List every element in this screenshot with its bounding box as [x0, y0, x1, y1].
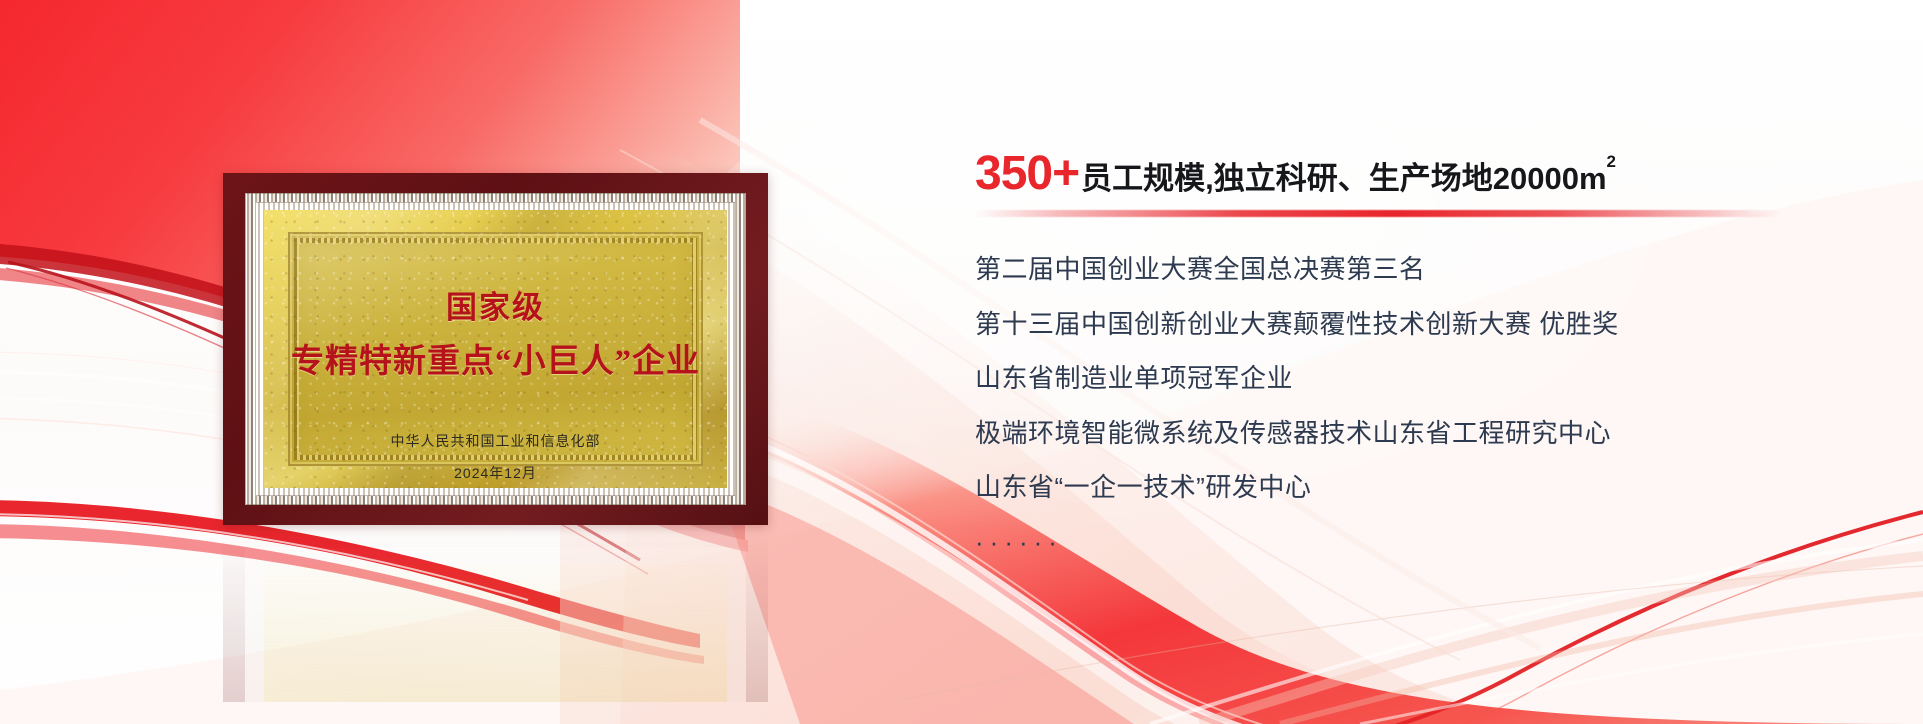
headline-underline-rule	[975, 210, 1780, 217]
achievement-list: 第二届中国创业大赛全国总决赛第三名 第十三届中国创新创业大赛颠覆性技术创新大赛 …	[975, 255, 1875, 557]
promotional-banner: 国家级 专精特新重点“小巨人”企业 中华人民共和国工业和信息化部 2024年12…	[0, 0, 1923, 724]
list-item: 极端环境智能微系统及传感器技术山东省工程研究中心	[975, 419, 1875, 448]
plaque-date: 2024年12月	[264, 463, 727, 483]
headline-text: 员工规模,独立科研、生产场地20000m2	[1081, 163, 1616, 194]
plaque-frame: 国家级 专精特新重点“小巨人”企业 中华人民共和国工业和信息化部 2024年12…	[223, 173, 768, 525]
plaque-title-line2: 专精特新重点“小巨人”企业	[264, 334, 727, 382]
plaque-gold-plate: 国家级 专精特新重点“小巨人”企业 中华人民共和国工业和信息化部 2024年12…	[264, 210, 727, 488]
plaque-inner-ornament-border: 国家级 专精特新重点“小巨人”企业 中华人民共和国工业和信息化部 2024年12…	[255, 202, 736, 496]
headline-superscript: 2	[1607, 152, 1616, 171]
plaque-title-line1: 国家级	[264, 282, 727, 327]
plaque-issuer: 中华人民共和国工业和信息化部	[264, 431, 727, 451]
list-item: 第二届中国创业大赛全国总决赛第三名	[975, 255, 1875, 284]
list-item: 山东省制造业单项冠军企业	[975, 364, 1875, 393]
award-plaque: 国家级 专精特新重点“小巨人”企业 中华人民共和国工业和信息化部 2024年12…	[223, 173, 768, 525]
list-ellipsis: ······	[975, 528, 1875, 557]
list-item: 第十三届中国创新创业大赛颠覆性技术创新大赛 优胜奖	[975, 310, 1875, 339]
content-column: 350+ 员工规模,独立科研、生产场地20000m2 第二届中国创业大赛全国总决…	[975, 150, 1875, 557]
list-item: 山东省“一企一技术”研发中心	[975, 473, 1875, 502]
headline-text-main: 员工规模,独立科研、生产场地20000m	[1081, 161, 1606, 196]
headline-number: 350+	[975, 150, 1079, 198]
headline: 350+ 员工规模,独立科研、生产场地20000m2	[975, 150, 1875, 198]
plaque-outer-ornament-border: 国家级 专精特新重点“小巨人”企业 中华人民共和国工业和信息化部 2024年12…	[245, 193, 746, 505]
